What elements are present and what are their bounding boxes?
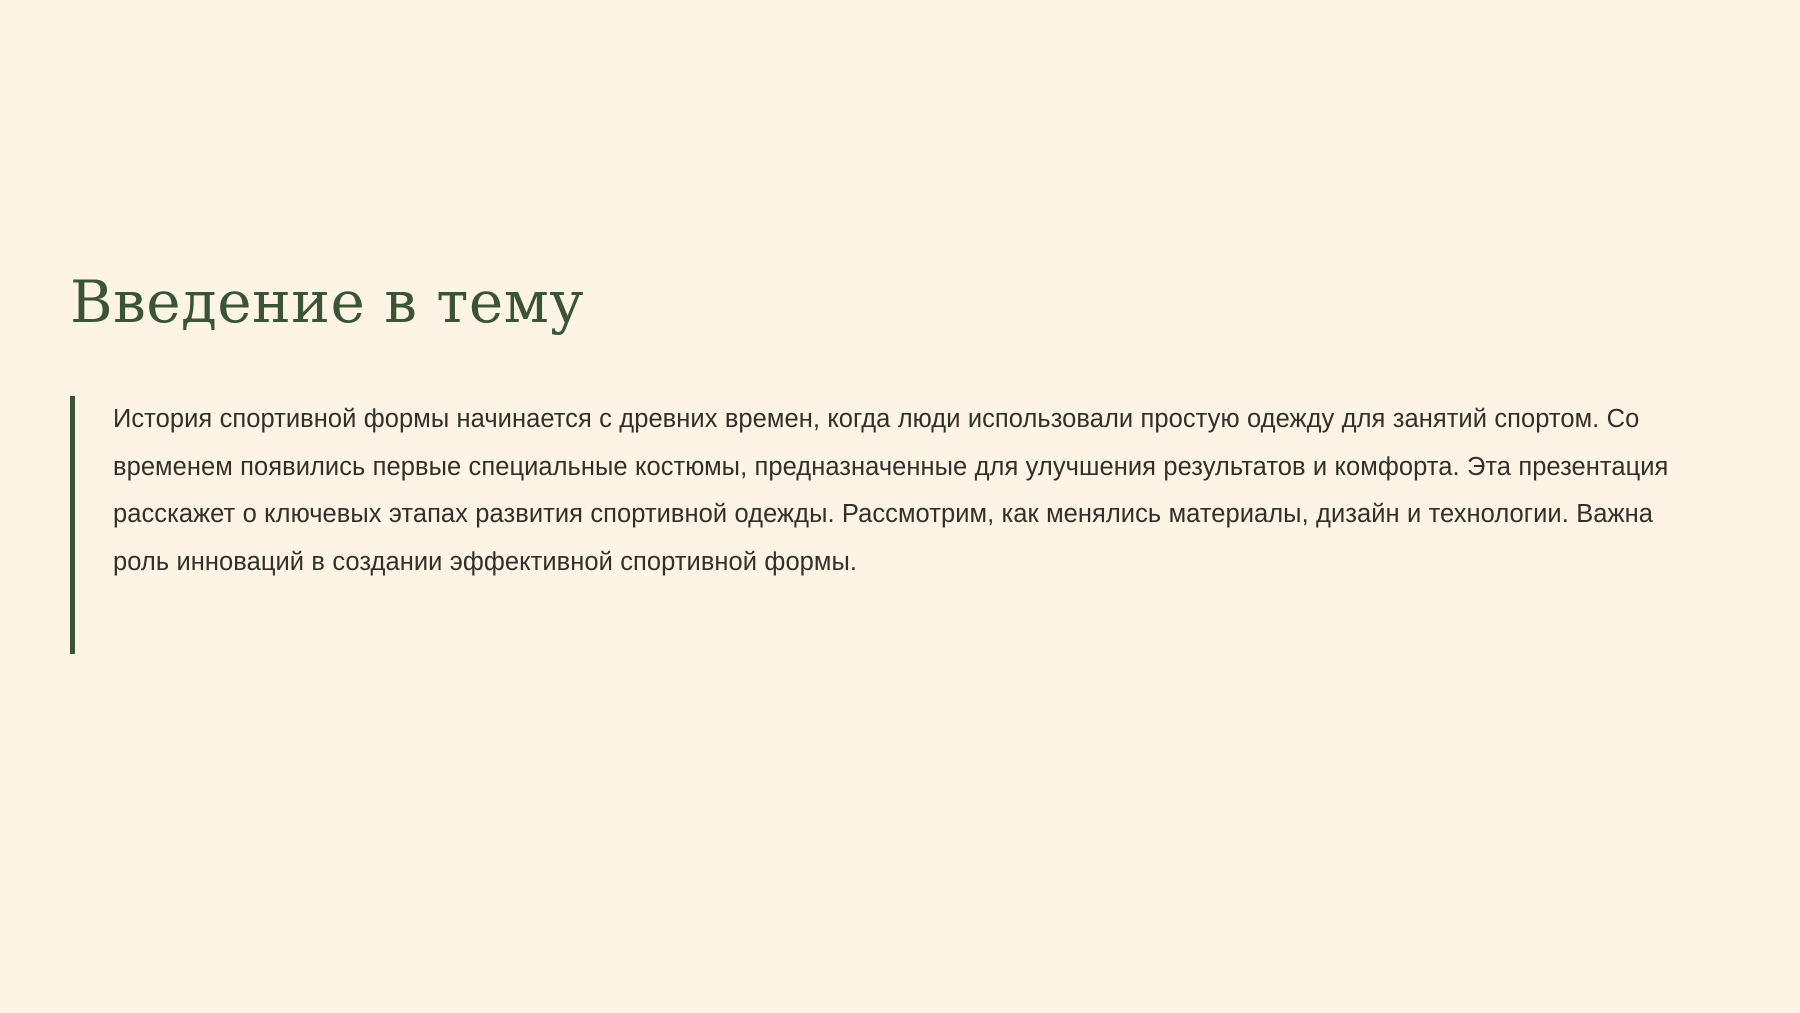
accent-bar [70,396,75,654]
slide-content-area: Введение в тему История спортивной формы… [70,268,1710,654]
page-title: Введение в тему [70,268,1710,336]
presentation-slide: Введение в тему История спортивной формы… [0,0,1800,1013]
quote-block: История спортивной формы начинается с др… [70,396,1710,654]
body-paragraph: История спортивной формы начинается с др… [113,396,1703,586]
